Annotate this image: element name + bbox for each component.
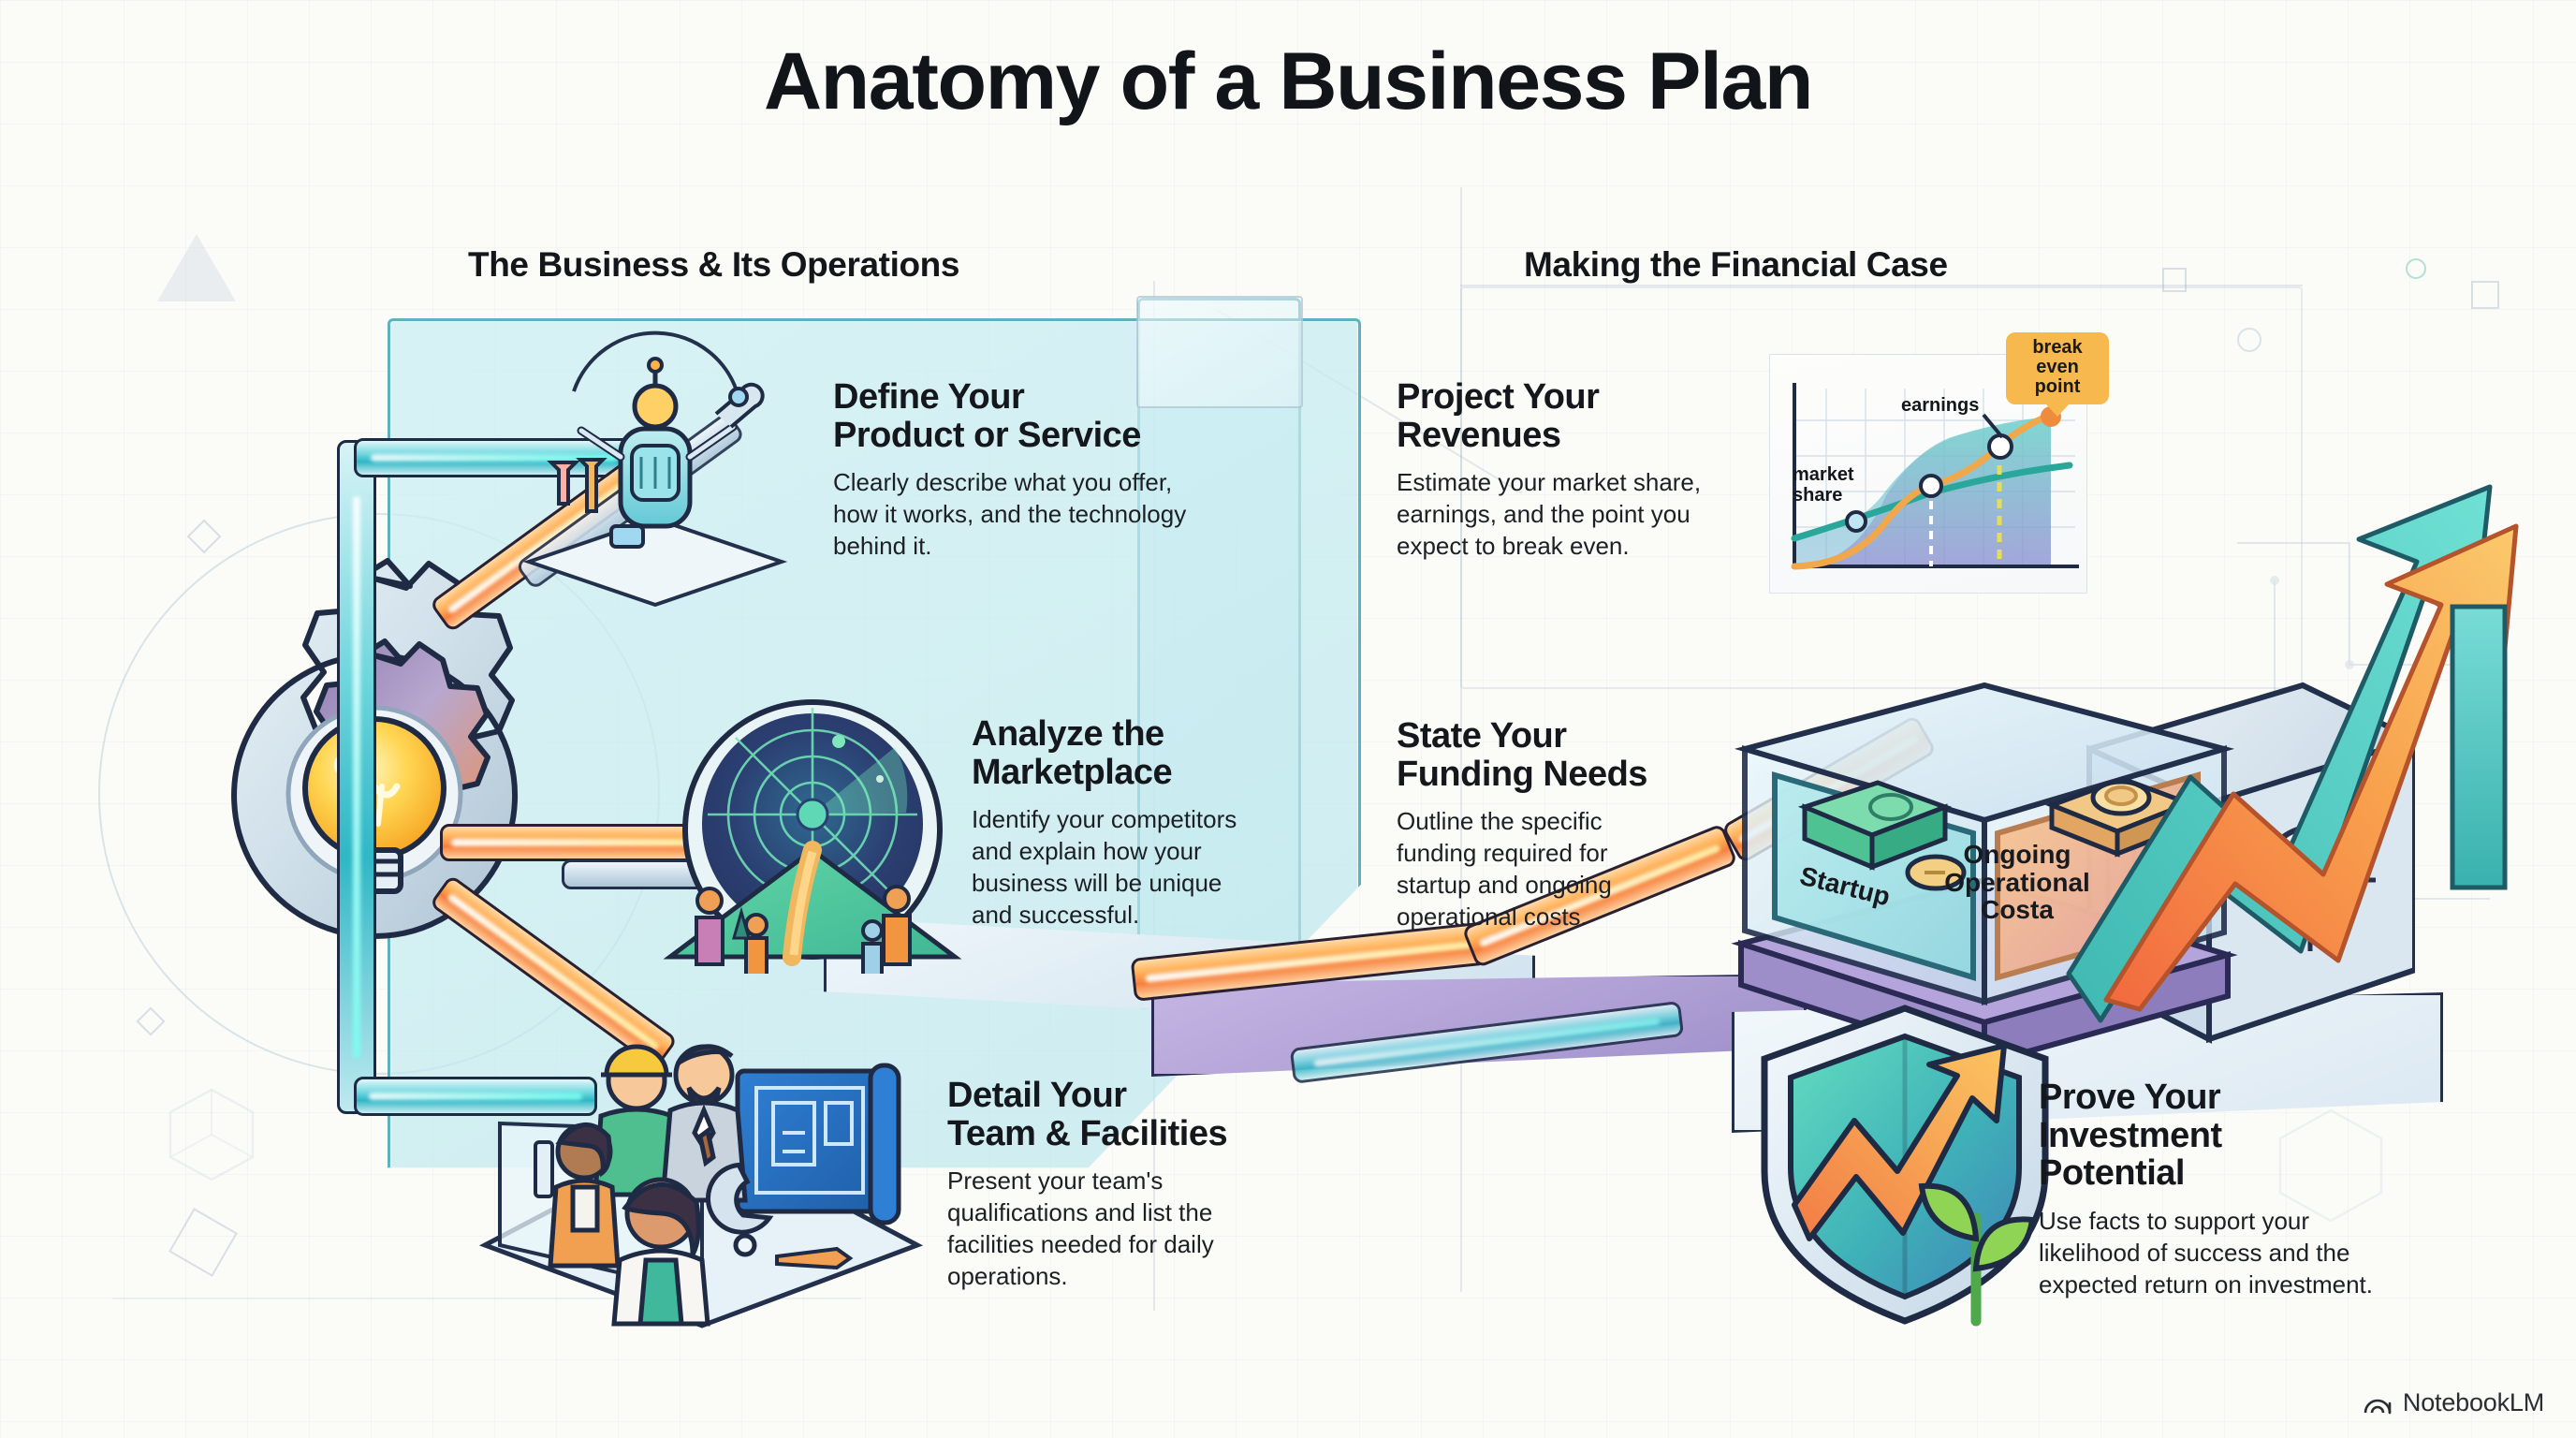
section-heading-business: The Business & Its Operations [468, 245, 959, 285]
item-body: Identify your competitors and explain ho… [972, 804, 1309, 931]
radar-marketplace-icon [655, 693, 973, 974]
item-heading: Analyze the Marketplace [972, 715, 1309, 791]
item-detail-team: Detail Your Team & Facilities Present yo… [947, 1077, 1303, 1293]
page-title: Anatomy of a Business Plan [0, 36, 2576, 128]
watermark-text: NotebookLM [2403, 1388, 2544, 1417]
item-heading: State Your Funding Needs [1397, 717, 1705, 793]
bp-circle-tiny [2406, 258, 2426, 279]
growth-arrows-icon [2050, 374, 2546, 1030]
chart-label-earnings: earnings [1901, 396, 1979, 417]
item-body: Estimate your market share, earnings, an… [1397, 467, 1743, 562]
bp-hexagon-icon [167, 1086, 256, 1183]
item-heading: Detail Your Team & Facilities [947, 1077, 1303, 1152]
bp-triangle [157, 234, 236, 301]
bp-square-b [2471, 281, 2499, 309]
item-analyze-marketplace: Analyze the Marketplace Identify your co… [972, 715, 1309, 932]
item-body: Present your team's qualifications and l… [947, 1166, 1303, 1292]
item-define-product: Define Your Product or Service Clearly d… [833, 378, 1226, 563]
robot-assembly-icon [501, 326, 810, 607]
infographic-canvas: Anatomy of a Business Plan The Business … [0, 0, 2576, 1438]
team-blueprint-icon [468, 1011, 927, 1329]
item-heading: Define Your Product or Service [833, 378, 1226, 454]
notebooklm-arc-icon [2364, 1391, 2392, 1416]
section-heading-financial: Making the Financial Case [1524, 245, 1948, 285]
notebooklm-watermark: NotebookLM [2364, 1388, 2544, 1417]
item-project-revenues: Project Your Revenues Estimate your mark… [1397, 378, 1743, 563]
item-heading: Project Your Revenues [1397, 378, 1743, 454]
conduit-teal-left-vertical [337, 440, 376, 1114]
item-investment-potential: Prove Your Investment Potential Use fact… [2039, 1078, 2432, 1300]
chart-label-market-share: market share [1793, 465, 1862, 506]
shield-growth-icon [1736, 988, 2073, 1334]
item-heading: Prove Your Investment Potential [2039, 1078, 2432, 1193]
item-body: Clearly describe what you offer, how it … [833, 467, 1226, 562]
item-body: Use facts to support your likelihood of … [2039, 1206, 2432, 1300]
item-body: Outline the specific funding required fo… [1397, 806, 1705, 932]
item-funding-needs: State Your Funding Needs Outline the spe… [1397, 717, 1705, 933]
revenue-mini-chart: market share earnings break even point [1769, 354, 2087, 594]
